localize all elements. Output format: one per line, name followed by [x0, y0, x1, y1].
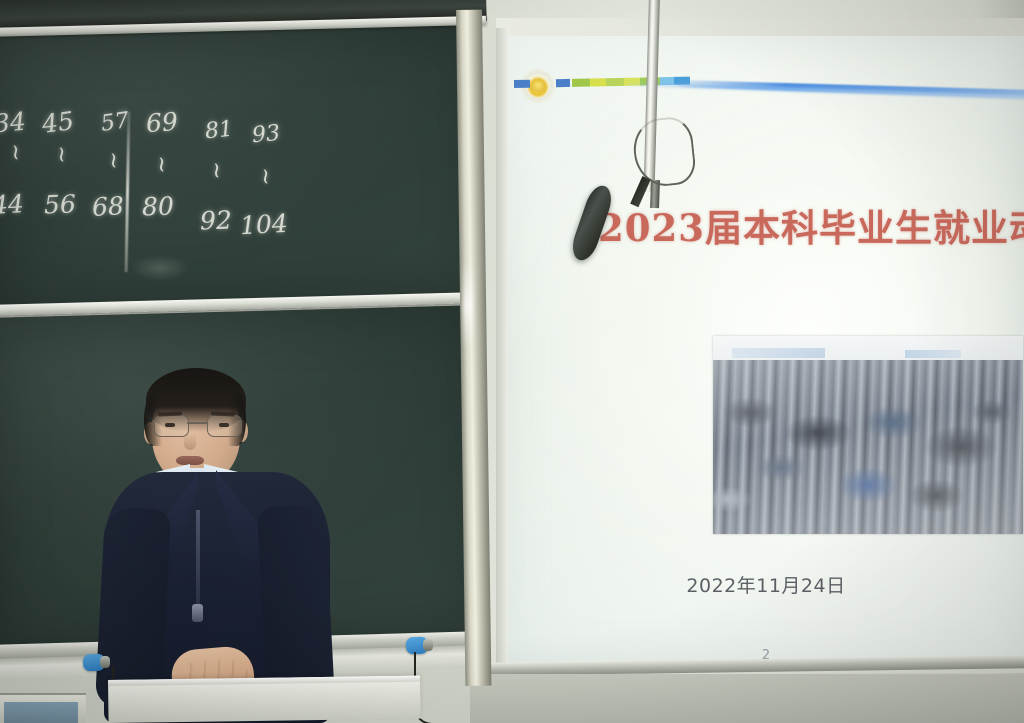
wall-below-screen [470, 674, 1024, 723]
classroom-scene: 2023届本科毕业生就业动员 2022年11月24日 2 34 ~ 44 45 … [0, 0, 1024, 723]
blackboard-post-highlight [463, 260, 473, 350]
jacket-zipper [196, 510, 200, 608]
slide-photo [713, 336, 1023, 534]
slide-title: 2023届本科毕业生就业动员 [598, 198, 1024, 252]
mouth [176, 456, 204, 465]
photo-projector-haze [713, 336, 1023, 534]
glasses-bridge [187, 422, 207, 424]
projection-screen: 2023届本科毕业生就业动员 2022年11月24日 2 [508, 36, 1024, 665]
eye-right [219, 423, 229, 427]
slide-date: 2022年11月24日 [508, 571, 1024, 598]
blackboard-panel-upper [0, 20, 485, 311]
eyeglasses-icon [153, 415, 241, 435]
nose [184, 434, 196, 450]
desk-unit-face [4, 702, 78, 723]
eye-left [165, 423, 175, 427]
zipper-pull [192, 604, 203, 622]
ledge-clamp-left-knob [100, 656, 110, 668]
chalk-smudge [130, 255, 190, 281]
ledge-clamp-right-knob [423, 639, 433, 651]
